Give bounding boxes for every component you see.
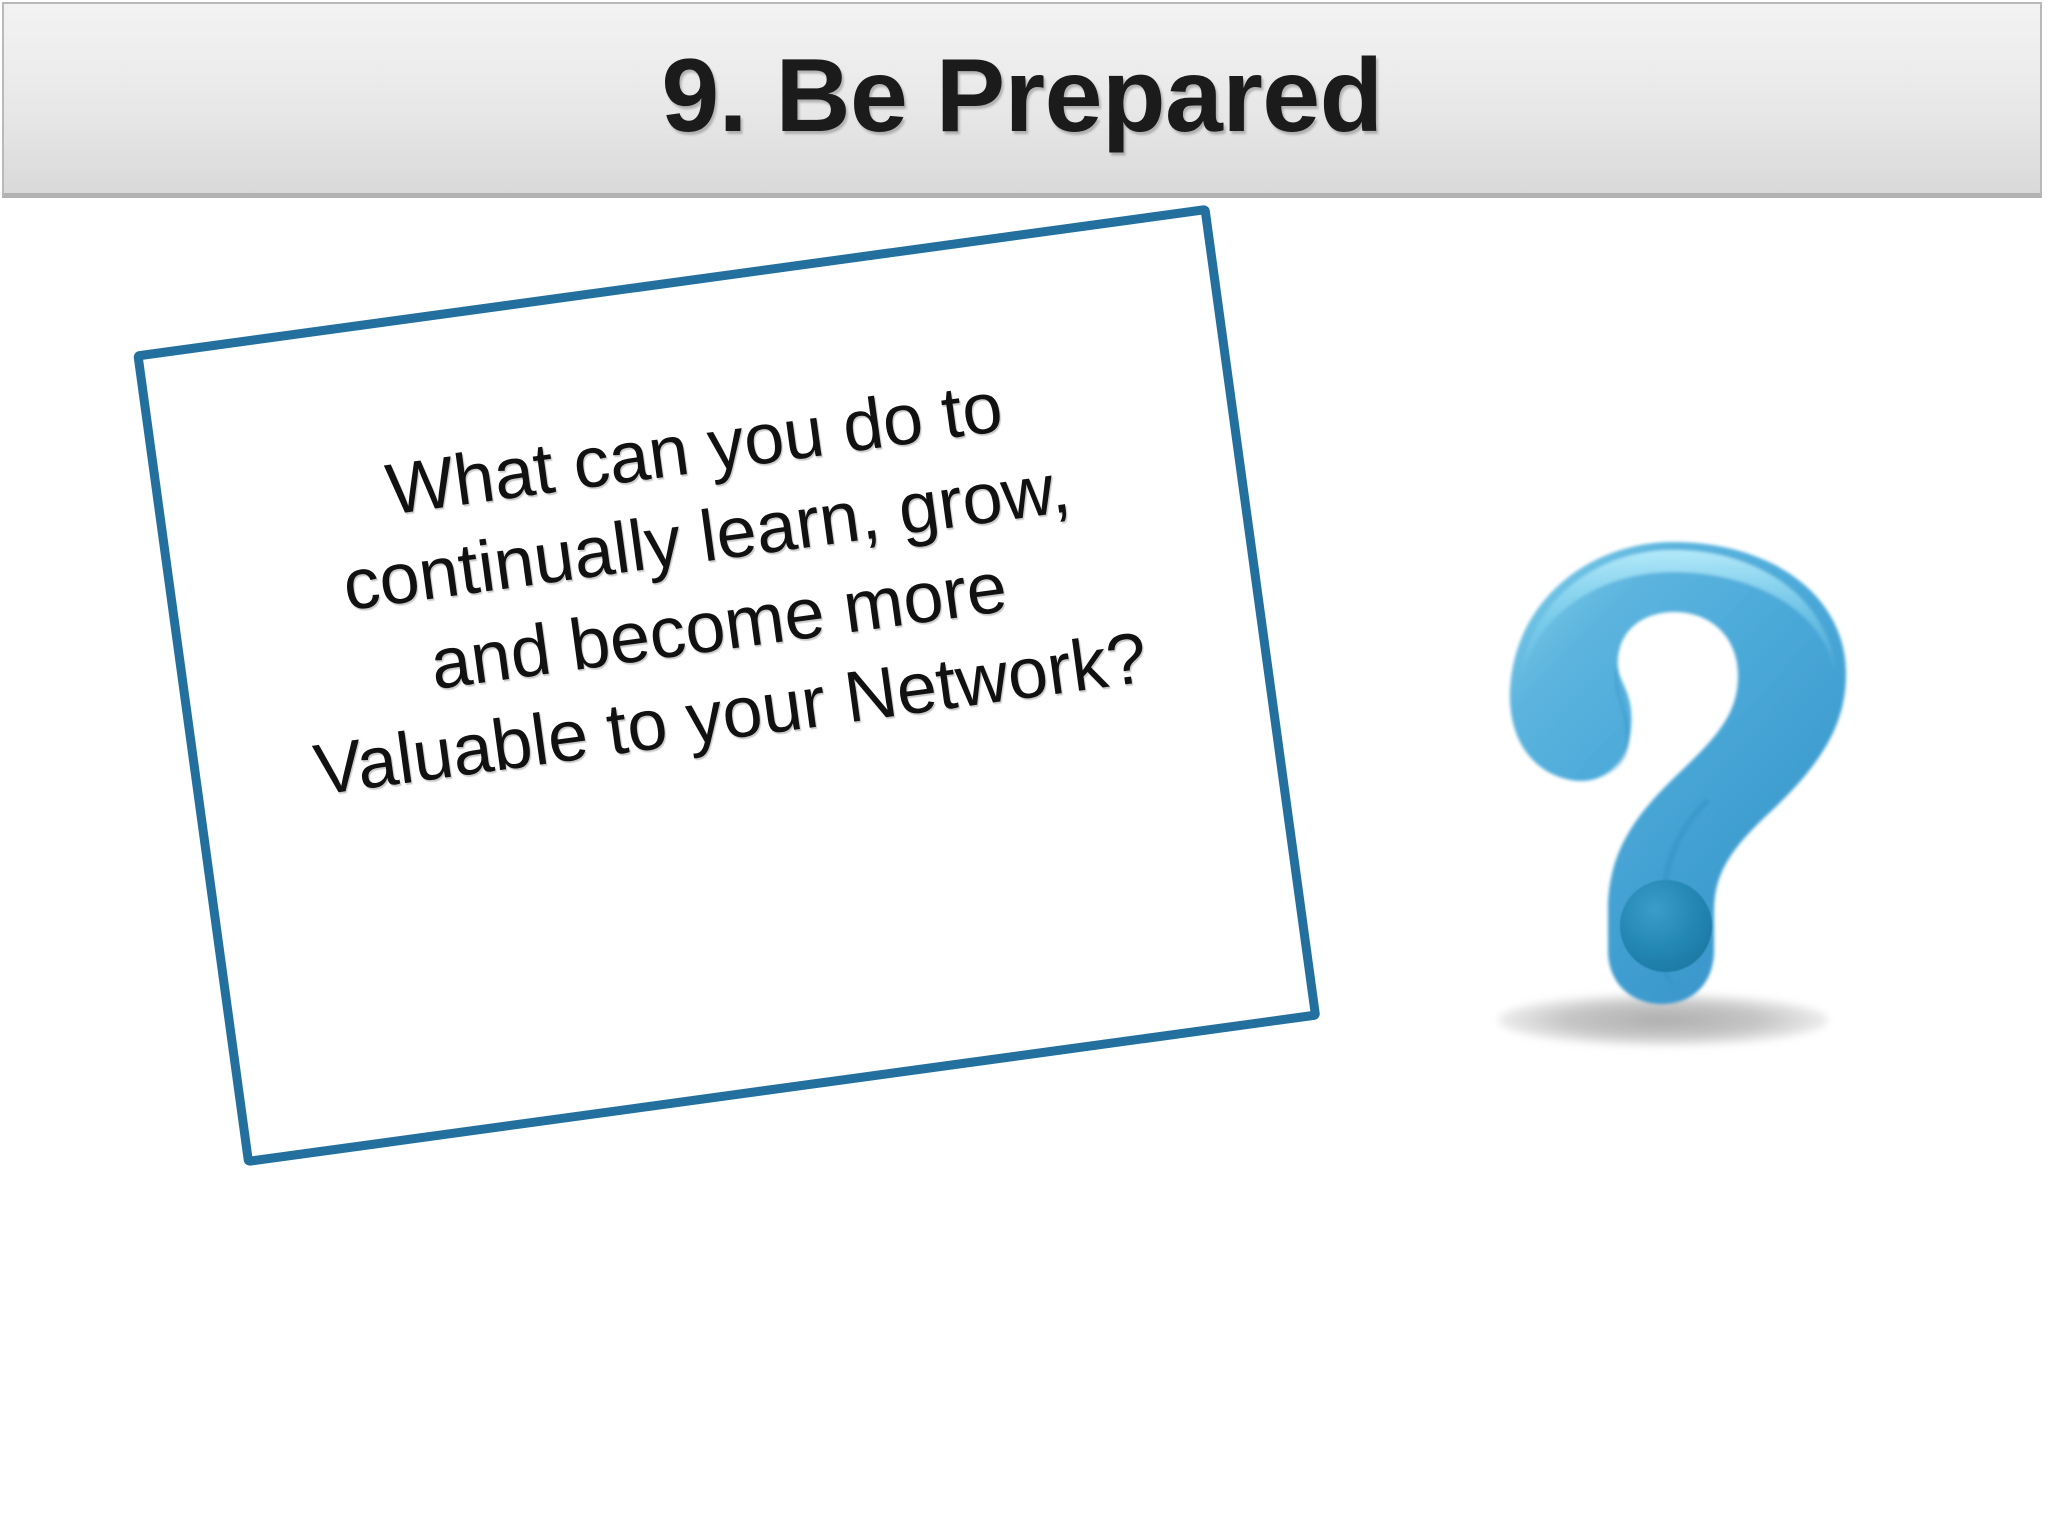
question-card: What can you do to continually learn, gr…	[133, 205, 1321, 1167]
slide-canvas: 9. Be Prepared What can you do to contin…	[0, 0, 2048, 1536]
question-mark-icon	[1448, 498, 1898, 1078]
question-mark-dot	[1620, 880, 1712, 972]
slide-title-bar: 9. Be Prepared	[2, 2, 2042, 198]
page-title: 9. Be Prepared	[661, 44, 1382, 148]
